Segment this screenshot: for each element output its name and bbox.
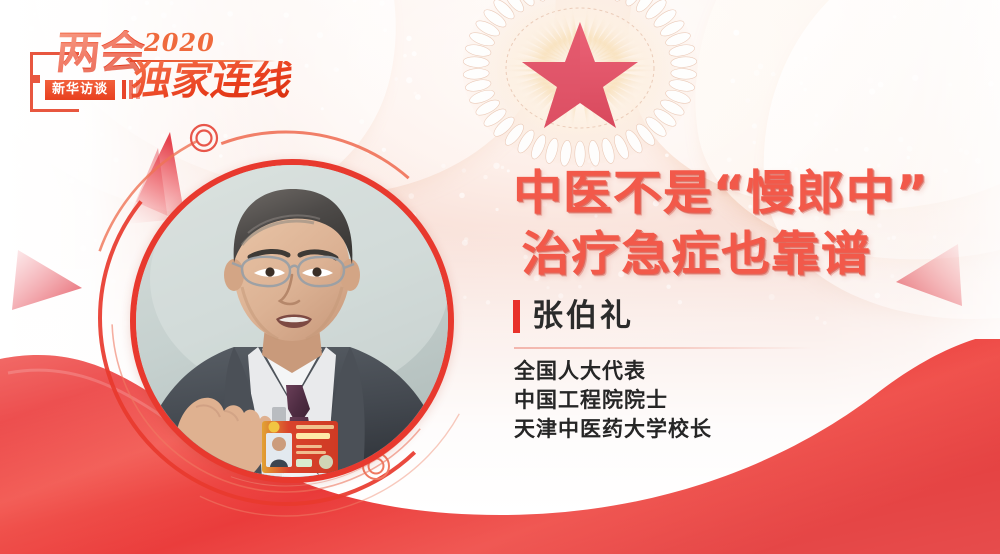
program-headline: 中医不是“慢郎中” 治疗急症也靠谱 (513, 163, 929, 285)
poster-canvas: 两会 2020 独家连线 新华访谈 中医不是“慢郎中” 治疗急症也靠谱 张伯礼 … (0, 0, 1000, 554)
credential-line: 天津中医药大学校长 (514, 415, 712, 444)
ceiling-rosette-icon (455, 0, 705, 167)
logo-year: 2020 (144, 28, 215, 57)
guest-portrait (86, 118, 486, 518)
guest-name-row: 张伯礼 (513, 300, 634, 333)
credential-line: 全国人大代表 (514, 357, 712, 386)
guest-credentials: 全国人大代表 中国工程院院士 天津中医药大学校长 (514, 357, 712, 444)
logo-subtitle: 独家连线 (128, 61, 296, 101)
name-divider (514, 347, 812, 349)
lianghui-exclusive-logo[interactable]: 两会 2020 独家连线 新华访谈 (26, 18, 276, 118)
portrait-photo (130, 159, 454, 483)
decor-triangle-icon (10, 238, 90, 318)
logo-main-title: 两会 (54, 30, 147, 75)
guest-name: 张伯礼 (532, 301, 634, 332)
credential-line: 中国工程院院士 (514, 386, 712, 415)
triple-bar-icon (122, 80, 140, 99)
name-accent-bar-icon (513, 300, 520, 333)
headline-line-2: 治疗急症也靠谱 (513, 224, 929, 285)
headline-line-1: 中医不是“慢郎中” (513, 163, 929, 224)
logo-badge: 新华访谈 (45, 80, 115, 100)
